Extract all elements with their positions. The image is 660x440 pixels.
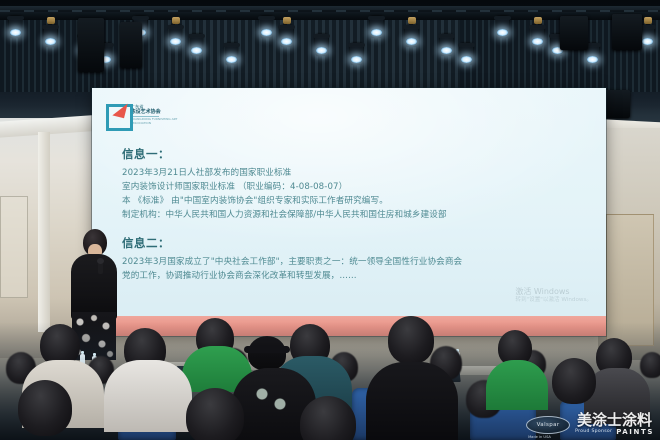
activation-subtitle: 转到"设置"以激活 Windows。	[515, 297, 592, 304]
brand-paints-text: PAINTS	[616, 428, 654, 436]
audience-body-dark	[366, 362, 458, 440]
audience-head	[186, 388, 244, 440]
brand-chinese-name: 美涂士涂料	[577, 413, 652, 428]
audience-head	[388, 316, 434, 364]
stage-light	[44, 25, 57, 47]
section-spacer	[122, 223, 588, 235]
truss-clamp	[47, 17, 55, 24]
section-1-heading: 信息一：	[122, 146, 588, 162]
stage-light	[169, 25, 182, 47]
truss-clamp	[534, 17, 542, 24]
hanging-speaker-icon	[120, 22, 142, 68]
logo-line3: GUANGDONG FURNISHING ART ASSOCIATION	[131, 118, 180, 126]
stage-light	[260, 16, 273, 38]
shirt-graphic	[252, 386, 292, 414]
ceiling-louvers-center	[150, 14, 510, 92]
hanging-speaker-icon	[78, 18, 104, 72]
hanging-speaker-icon	[612, 14, 642, 50]
brand-made-in: Made in USA	[528, 435, 551, 439]
windows-activation-watermark: 激活 Windows 转到"设置"以激活 Windows。	[515, 287, 592, 304]
stage-light	[496, 16, 509, 38]
audience-head-with-cap	[248, 336, 286, 370]
logo-line2: 陈设艺术协会	[131, 110, 180, 115]
stage-light	[531, 25, 544, 47]
truss-clamp	[408, 17, 416, 24]
truss-clamp	[283, 17, 291, 24]
slide-logo: 广东省 陈设艺术协会 GUANGDONG FURNISHING ART ASSO…	[106, 100, 180, 130]
stage-light	[440, 34, 453, 56]
stage-light	[190, 34, 203, 56]
audience-head	[640, 352, 660, 378]
section-2-line-2: 党的工作，协调推动行业协会商会深化改革和转型发展，……	[122, 270, 588, 284]
section-2-line-1: 2023年3月国家成立了"中央社会工作部"，主要职责之一：统一领导全国性行业协会…	[122, 256, 588, 270]
section-1-line-2: 室内装饰设计师国家职业标准 （职业编码：4-08-08-07）	[122, 181, 588, 195]
stage-light	[370, 16, 383, 38]
stage-light	[460, 43, 473, 65]
stage-light	[225, 43, 238, 65]
audience-body-green	[486, 360, 548, 410]
left-wall-panel	[0, 196, 28, 298]
brand-badge-text: Valspar	[527, 417, 569, 433]
section-1-line-4: 制定机构：中华人民共和国人力资源和社会保障部/中华人民共和国住房和城乡建设部	[122, 209, 588, 223]
audience-head	[552, 358, 596, 404]
speaker-torso	[71, 254, 117, 320]
brand-badge-icon: Valspar Made in USA	[526, 416, 570, 434]
microphone-head-icon	[97, 258, 104, 264]
slide-section-1: 信息一： 2023年3月21日人社部发布的国家职业标准 室内装饰设计师国家职业标…	[122, 146, 588, 223]
audience-body-white	[104, 360, 192, 432]
left-wall-column	[38, 132, 50, 332]
stage-light	[280, 25, 293, 47]
hanging-speaker-icon	[560, 16, 588, 50]
cap-brim-icon	[244, 346, 290, 353]
brand-watermark: Valspar Made in USA 美涂士涂料 Proud Sponsor …	[526, 413, 654, 436]
truss-clamp	[172, 17, 180, 24]
section-1-line-1: 2023年3月21日人社部发布的国家职业标准	[122, 167, 588, 181]
slide-section-2: 信息二： 2023年3月国家成立了"中央社会工作部"，主要职责之一：统一领导全国…	[122, 235, 588, 284]
brand-script: Proud Sponsor	[575, 429, 612, 435]
stage-light	[9, 16, 22, 38]
association-logo-icon	[106, 102, 126, 129]
stage-light	[641, 25, 654, 47]
slide-text-body: 信息一： 2023年3月21日人社部发布的国家职业标准 室内装饰设计师国家职业标…	[122, 146, 588, 284]
section-1-line-3: 本 《标准》 由"中国室内装饰协会"组织专家和实际工作者研究编写。	[122, 195, 588, 209]
audience-head	[18, 380, 72, 436]
section-2-heading: 信息二：	[122, 235, 588, 251]
slide-surface: 广东省 陈设艺术协会 GUANGDONG FURNISHING ART ASSO…	[92, 88, 606, 336]
stage-light	[315, 34, 328, 56]
stage-light	[405, 25, 418, 47]
stage-light	[350, 43, 363, 65]
truss-clamp	[644, 17, 652, 24]
activation-title: 激活 Windows	[515, 287, 592, 297]
conference-photo: 广东省 陈设艺术协会 GUANGDONG FURNISHING ART ASSO…	[0, 0, 660, 440]
projection-screen: 广东省 陈设艺术协会 GUANGDONG FURNISHING ART ASSO…	[92, 88, 606, 336]
